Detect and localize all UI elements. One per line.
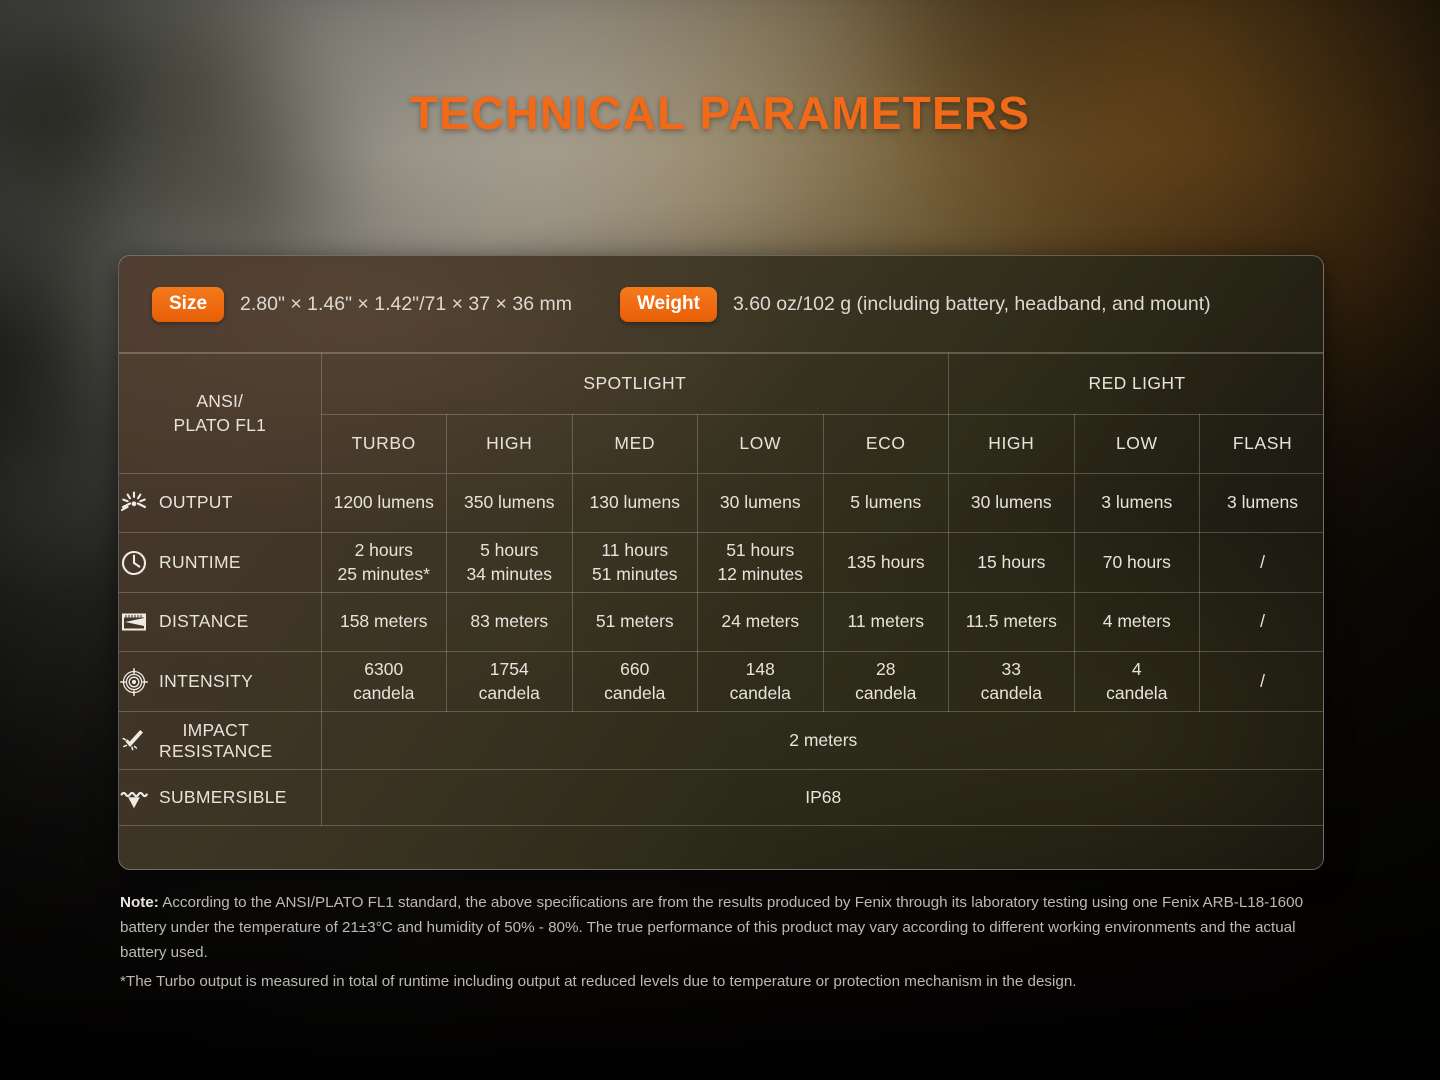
mode-header-high: HIGH xyxy=(447,415,573,474)
size-badge: Size xyxy=(152,287,224,322)
row-label-text: INTENSITY xyxy=(159,670,253,693)
mode-header-red-high: HIGH xyxy=(949,415,1075,474)
cell-output-high: 350 lumens xyxy=(447,474,573,533)
cell-runtime-high: 5 hours34 minutes xyxy=(447,533,573,593)
table-row-intensity: INTENSITY 6300candela 1754candela 660can… xyxy=(119,652,1324,712)
ansi-line-1: ANSI/ xyxy=(196,391,243,411)
note-body: According to the ANSI/PLATO FL1 standard… xyxy=(120,894,1303,961)
note-label: Note: xyxy=(120,894,159,911)
submersible-icon xyxy=(119,783,149,813)
table-head: ANSI/ PLATO FL1 SPOTLIGHT RED LIGHT TURB… xyxy=(119,354,1324,474)
ansi-line-2: PLATO FL1 xyxy=(173,415,266,435)
cell-intensity-low: 148candela xyxy=(698,652,824,712)
cell-runtime-red-low: 70 hours xyxy=(1074,533,1200,593)
weight-badge: Weight xyxy=(620,287,717,322)
page-title: TECHNICAL PARAMETERS xyxy=(0,86,1440,140)
note-paragraph: Note: According to the ANSI/PLATO FL1 st… xyxy=(120,894,1303,961)
mode-header-turbo: TURBO xyxy=(321,415,447,474)
cell-impact-resistance-value: 2 meters xyxy=(321,712,1324,770)
cell-intensity-turbo: 6300candela xyxy=(321,652,447,712)
specifications-table: ANSI/ PLATO FL1 SPOTLIGHT RED LIGHT TURB… xyxy=(119,353,1324,866)
row-label-impact-resistance: IMPACTRESISTANCE xyxy=(119,712,321,770)
cell-runtime-red-high: 15 hours xyxy=(949,533,1075,593)
cell-output-eco: 5 lumens xyxy=(823,474,949,533)
cell-distance-med: 51 meters xyxy=(572,593,698,652)
cell-runtime-red-flash: / xyxy=(1200,533,1324,593)
note-footnote: *The Turbo output is measured in total o… xyxy=(120,969,1322,994)
spacer-cell xyxy=(119,826,1324,866)
row-label-text: IMPACTRESISTANCE xyxy=(159,720,273,762)
specifications-panel: Size 2.80" × 1.46" × 1.42"/71 × 37 × 36 … xyxy=(118,255,1324,870)
cell-output-red-high: 30 lumens xyxy=(949,474,1075,533)
group-header-spotlight: SPOTLIGHT xyxy=(321,354,949,415)
row-label-runtime: RUNTIME xyxy=(119,533,321,593)
light-burst-icon xyxy=(119,488,149,518)
cell-intensity-med: 660candela xyxy=(572,652,698,712)
impact-resistance-icon xyxy=(119,726,149,756)
table-row-distance: DISTANCE 158 meters 83 meters 51 meters … xyxy=(119,593,1324,652)
table-row-spacer xyxy=(119,826,1324,866)
cell-intensity-eco: 28candela xyxy=(823,652,949,712)
target-intensity-icon xyxy=(119,667,149,697)
size-weight-strip: Size 2.80" × 1.46" × 1.42"/71 × 37 × 36 … xyxy=(119,256,1323,353)
table-row-submersible: SUBMERSIBLE IP68 xyxy=(119,770,1324,826)
table-row-output: OUTPUT 1200 lumens 350 lumens 130 lumens… xyxy=(119,474,1324,533)
mode-header-eco: ECO xyxy=(823,415,949,474)
cell-intensity-high: 1754candela xyxy=(447,652,573,712)
mode-header-low: LOW xyxy=(698,415,824,474)
table-row-impact-resistance: IMPACTRESISTANCE 2 meters xyxy=(119,712,1324,770)
cell-runtime-turbo: 2 hours25 minutes* xyxy=(321,533,447,593)
cell-runtime-med: 11 hours51 minutes xyxy=(572,533,698,593)
cell-distance-turbo: 158 meters xyxy=(321,593,447,652)
row-label-text: SUBMERSIBLE xyxy=(159,786,287,809)
weight-group: Weight 3.60 oz/102 g (including battery,… xyxy=(620,287,1211,322)
cell-runtime-eco: 135 hours xyxy=(823,533,949,593)
cell-intensity-red-low: 4candela xyxy=(1074,652,1200,712)
weight-value: 3.60 oz/102 g (including battery, headba… xyxy=(733,293,1211,316)
size-value: 2.80" × 1.46" × 1.42"/71 × 37 × 36 mm xyxy=(240,293,572,316)
mode-header-med: MED xyxy=(572,415,698,474)
cell-distance-red-flash: / xyxy=(1200,593,1324,652)
row-label-intensity: INTENSITY xyxy=(119,652,321,712)
cell-intensity-red-flash: / xyxy=(1200,652,1324,712)
row-label-text: DISTANCE xyxy=(159,610,249,633)
cell-output-med: 130 lumens xyxy=(572,474,698,533)
clock-icon xyxy=(119,548,149,578)
cell-output-turbo: 1200 lumens xyxy=(321,474,447,533)
cell-output-red-flash: 3 lumens xyxy=(1200,474,1324,533)
cell-distance-red-low: 4 meters xyxy=(1074,593,1200,652)
row-label-text: RUNTIME xyxy=(159,551,241,574)
cell-distance-high: 83 meters xyxy=(447,593,573,652)
row-label-distance: DISTANCE xyxy=(119,593,321,652)
cell-distance-red-high: 11.5 meters xyxy=(949,593,1075,652)
cell-output-low: 30 lumens xyxy=(698,474,824,533)
mode-header-red-low: LOW xyxy=(1074,415,1200,474)
table-row-runtime: RUNTIME 2 hours25 minutes* 5 hours34 min… xyxy=(119,533,1324,593)
cell-runtime-low: 51 hours12 minutes xyxy=(698,533,824,593)
group-header-red-light: RED LIGHT xyxy=(949,354,1324,415)
beam-distance-icon xyxy=(119,607,149,637)
row-label-submersible: SUBMERSIBLE xyxy=(119,770,321,826)
group-header-row: ANSI/ PLATO FL1 SPOTLIGHT RED LIGHT xyxy=(119,354,1324,415)
row-label-output: OUTPUT xyxy=(119,474,321,533)
ansi-plato-label: ANSI/ PLATO FL1 xyxy=(119,354,321,474)
cell-submersible-value: IP68 xyxy=(321,770,1324,826)
row-label-text: OUTPUT xyxy=(159,491,233,514)
table-body: OUTPUT 1200 lumens 350 lumens 130 lumens… xyxy=(119,474,1324,866)
cell-intensity-red-high: 33candela xyxy=(949,652,1075,712)
cell-output-red-low: 3 lumens xyxy=(1074,474,1200,533)
note-block: Note: According to the ANSI/PLATO FL1 st… xyxy=(120,890,1322,994)
mode-header-red-flash: FLASH xyxy=(1200,415,1324,474)
cell-distance-low: 24 meters xyxy=(698,593,824,652)
cell-distance-eco: 11 meters xyxy=(823,593,949,652)
